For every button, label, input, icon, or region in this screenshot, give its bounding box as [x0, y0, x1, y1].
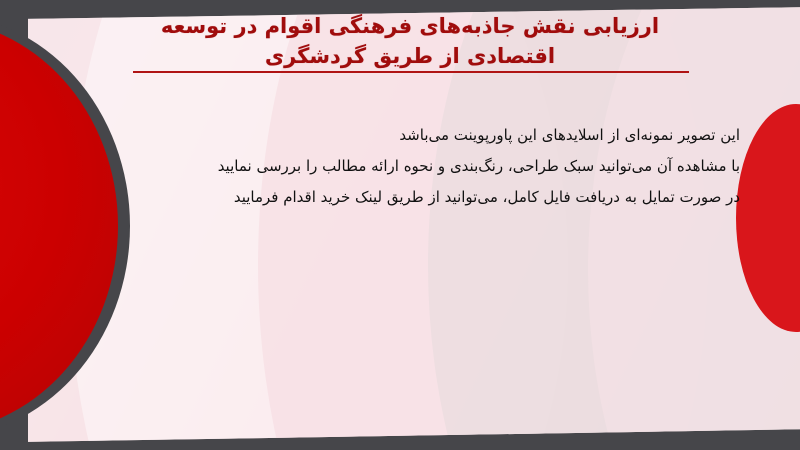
slide-title-line-1: ارزیابی نقش جاذبه‌های فرهنگی اقوام در تو…	[120, 12, 700, 42]
presentation-slide: ارزیابی نقش جاذبه‌های فرهنگی اقوام در تو…	[0, 0, 800, 450]
slide-title-line-2: اقتصادی از طریق گردشگری	[120, 42, 700, 72]
slide-title: ارزیابی نقش جاذبه‌های فرهنگی اقوام در تو…	[120, 12, 700, 72]
slide-body-text: این تصویر نمونه‌ای از اسلایدهای این پاور…	[120, 120, 740, 212]
body-line-1: این تصویر نمونه‌ای از اسلایدهای این پاور…	[120, 120, 740, 151]
body-line-2: با مشاهده آن می‌توانید سبک طراحی، رنگ‌بن…	[120, 151, 740, 182]
body-line-3: در صورت تمایل به دریافت فایل کامل، می‌تو…	[120, 182, 740, 213]
title-underline-rule	[133, 71, 689, 73]
